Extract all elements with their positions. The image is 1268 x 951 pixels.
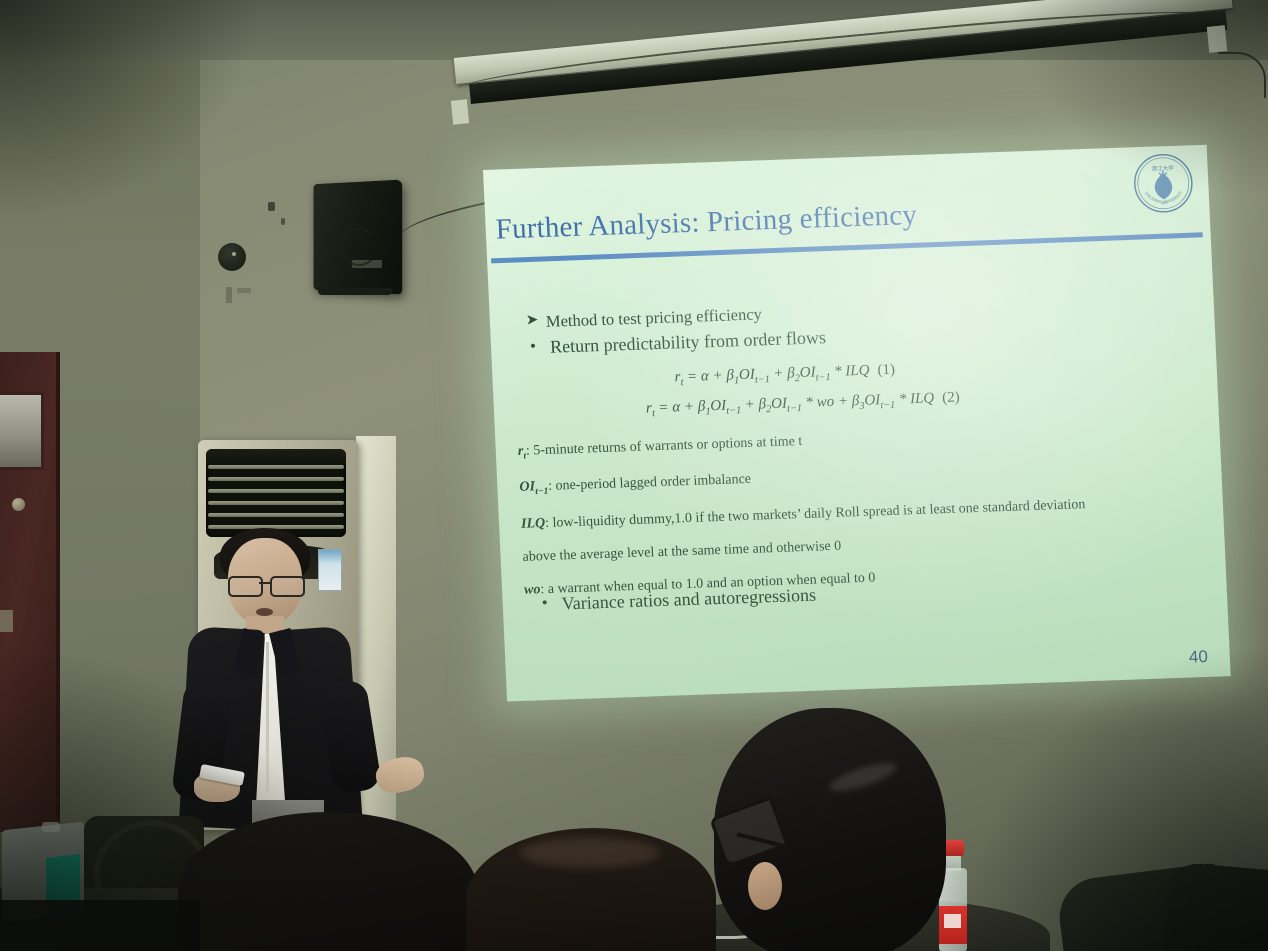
definition-row: above the average level at the same time… [522, 526, 1222, 564]
corner-shadow [0, 0, 260, 220]
bottle-neck [945, 855, 961, 871]
definition-row: rt: 5-minute returns of warrants or opti… [518, 421, 1218, 463]
wall-mark [281, 218, 285, 225]
projection-screen: 港江大学 1897 ZHEJIANG UNIVERSITY Further An… [483, 145, 1231, 702]
definition-text: : one-period lagged order imbalance [548, 472, 751, 494]
roller-endcap-left [451, 99, 469, 124]
variable-definitions: rt: 5-minute returns of warrants or opti… [518, 421, 1225, 617]
definition-text: : low-liquidity dummy,1.0 if the two mar… [545, 497, 1086, 531]
equation-1: rt = α + β1OIt−1 + β2OIt−1 * ILQ(1) [674, 362, 895, 389]
lecture-room-photo: 港江大学 1897 ZHEJIANG UNIVERSITY Further An… [0, 0, 1268, 951]
door-plate [0, 610, 13, 632]
equation-2: rt = α + β1OIt−1 + β2OIt−1 * wo + β3OIt−… [646, 389, 961, 419]
air-conditioner-grille-top [206, 449, 346, 465]
door-knob[interactable] [12, 498, 25, 511]
presentation-slide: 港江大学 1897 ZHEJIANG UNIVERSITY Further An… [483, 145, 1231, 702]
definition-row: ILQ: low-liquidity dummy,1.0 if the two … [521, 493, 1221, 531]
corner-shadow [1008, 0, 1268, 200]
door-window [0, 392, 44, 470]
definition-text: : 5-minute returns of warrants or option… [526, 434, 803, 459]
arrow-bullet-icon: ➤ [525, 310, 546, 331]
definition-row: OIt−1: one-period lagged order imbalance [519, 457, 1219, 499]
speaker-base [318, 288, 392, 295]
corner-shadow [0, 651, 340, 951]
definition-symbol: OIt−1 [519, 479, 548, 495]
dot-bullet-icon: • [527, 335, 551, 359]
hair-highlight [520, 838, 660, 868]
presenter-mouth [256, 608, 273, 616]
presenter-hand-right [373, 753, 427, 796]
wall-fixture-highlight [232, 252, 236, 256]
definition-symbol: ILQ [521, 516, 546, 532]
equation-2-tag: (2) [934, 389, 960, 406]
bottle-label-highlight [944, 914, 961, 928]
definition-text: above the average level at the same time… [522, 538, 841, 564]
slide-bullet-list: ➤ Method to test pricing efficiency • Re… [525, 288, 1187, 363]
wall-fixture [218, 243, 246, 271]
wall-mark [268, 202, 275, 211]
wall-bracket [237, 288, 251, 293]
corner-shadow [968, 651, 1268, 951]
audience-member-ear [748, 862, 782, 910]
dot-bullet-icon: • [538, 592, 562, 616]
speaker-cable-loop [340, 228, 378, 266]
presenter-glasses [228, 576, 304, 593]
wall-bracket [226, 287, 232, 303]
equation-1-tag: (1) [869, 362, 895, 379]
